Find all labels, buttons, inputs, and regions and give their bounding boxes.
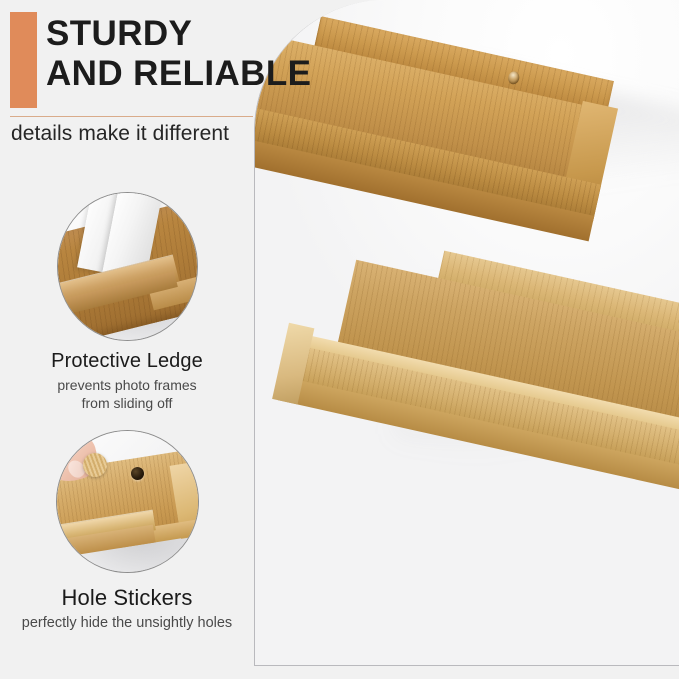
- feature-title: Hole Stickers: [0, 585, 254, 611]
- feature-image-hole-stickers: [56, 430, 199, 573]
- infographic-canvas: STURDY AND RELIABLE details make it diff…: [0, 0, 679, 679]
- accent-bar: [10, 12, 37, 108]
- feature-subtitle-line-1: prevents photo frames: [57, 377, 196, 393]
- page-subtitle: details make it different: [11, 122, 311, 146]
- feature-subtitle: prevents photo frames from sliding off: [0, 376, 254, 412]
- page-title: STURDY AND RELIABLE: [46, 14, 336, 94]
- ledge-scene: [58, 193, 197, 340]
- feature-hole-stickers: Hole Stickers perfectly hide the unsight…: [0, 430, 254, 632]
- feature-title: Protective Ledge: [0, 350, 254, 373]
- feature-subtitle-line-1: perfectly hide the unsightly holes: [22, 615, 232, 631]
- hole-sticker-icon: [83, 453, 107, 477]
- feature-protective-ledge: Protective Ledge prevents photo frames f…: [0, 192, 254, 412]
- feature-subtitle-line-2: from sliding off: [82, 395, 173, 411]
- feature-image-protective-ledge: [57, 192, 198, 341]
- headline-line-2: AND RELIABLE: [46, 54, 336, 94]
- product-photo-panel: [254, 0, 679, 666]
- feature-subtitle: perfectly hide the unsightly holes: [0, 614, 254, 632]
- headline-line-1: STURDY: [46, 14, 192, 53]
- title-divider: [10, 116, 253, 117]
- sticker-scene: [57, 431, 198, 572]
